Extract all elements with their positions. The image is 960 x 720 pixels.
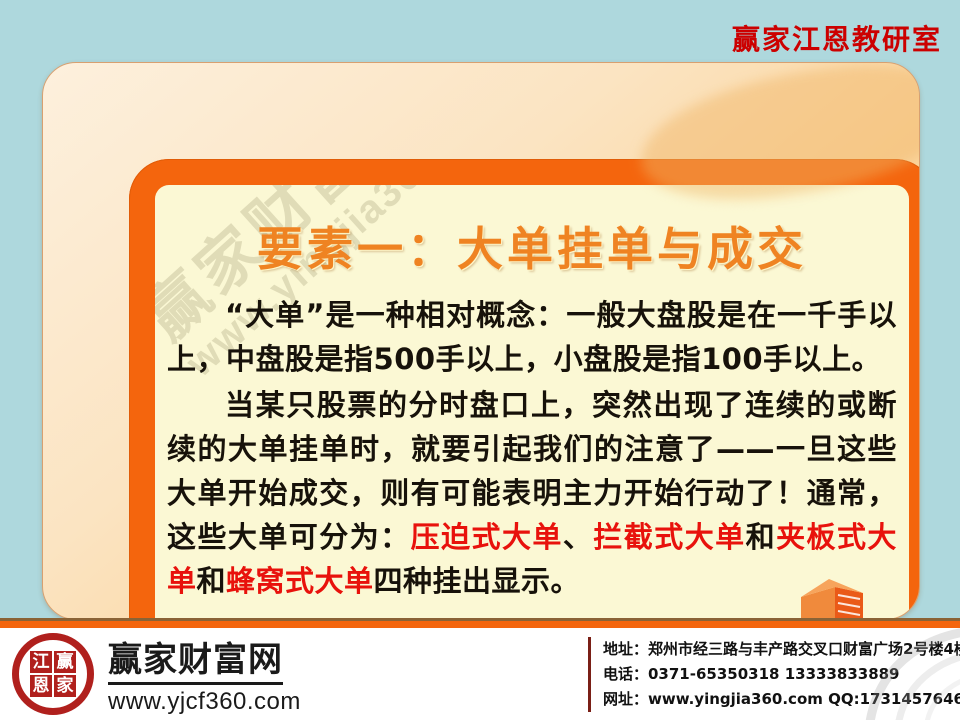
text-run-normal: 和	[197, 564, 227, 598]
slide-title: 要素一：大单挂单与成交	[155, 213, 909, 279]
text-run-bold: 100	[701, 342, 763, 376]
paragraph-1: “大单”是一种相对概念：一般大盘股是在一千手以上，中盘股是指500手以上，小盘股…	[167, 293, 897, 381]
company-seal-icon: 江 赢 恩 家	[12, 633, 94, 715]
contact-phone: 电话：0371-65350318 13333833889	[603, 662, 960, 687]
seal-character-grid: 江 赢 恩 家	[30, 651, 76, 697]
text-run-normal: 、	[563, 520, 593, 554]
brand-block: 赢家财富网 www.yjcf360.com	[108, 632, 301, 716]
contact-website: 网址：www.yingjia360.com QQ:1731457646	[603, 687, 960, 712]
text-run-red: 拦截式大单	[593, 520, 745, 554]
brand-name: 赢家财富网	[108, 632, 283, 685]
text-run-normal: 四种挂出显示。	[374, 564, 581, 598]
seal-char-3: 恩	[30, 675, 52, 697]
slide-body: “大单”是一种相对概念：一般大盘股是在一千手以上，中盘股是指500手以上，小盘股…	[155, 293, 909, 605]
text-run-normal: 手以上。	[763, 342, 881, 376]
paragraph-2: 当某只股票的分时盘口上，突然出现了连续的或断续的大单挂单时，就要引起我们的注意了…	[167, 383, 897, 603]
text-run-red: 蜂窝式大单	[226, 564, 374, 598]
footer-logo[interactable]: 江 赢 恩 家 赢家财富网 www.yjcf360.com	[12, 632, 301, 716]
page-footer: 江 赢 恩 家 赢家财富网 www.yjcf360.com 地址：郑州市经三路与…	[0, 628, 960, 720]
slide-content-panel: 赢家财富网 www.yingjia360.com QQ:1731457646 要…	[155, 185, 909, 620]
header-title: 赢家江恩教研室	[732, 18, 942, 58]
contact-address: 地址：郑州市经三路与丰产路交叉口财富广场2号楼4楼C户	[603, 637, 960, 662]
seal-char-4: 家	[54, 675, 76, 697]
contact-block: 地址：郑州市经三路与丰产路交叉口财富广场2号楼4楼C户 电话：0371-6535…	[588, 637, 960, 712]
text-run-red: 压迫式大单	[411, 520, 563, 554]
seal-char-2: 赢	[54, 651, 76, 673]
slide-card-outer: 赢家财富网 www.yingjia360.com QQ:1731457646 要…	[42, 62, 920, 620]
text-run-bold: 500	[374, 342, 436, 376]
brand-website[interactable]: www.yjcf360.com	[108, 688, 301, 716]
text-run-normal: 和	[746, 520, 776, 554]
text-run-normal: 手以上，小盘股是指	[436, 342, 702, 376]
seal-char-1: 江	[30, 651, 52, 673]
page-header: 赢家江恩教研室	[0, 0, 960, 58]
